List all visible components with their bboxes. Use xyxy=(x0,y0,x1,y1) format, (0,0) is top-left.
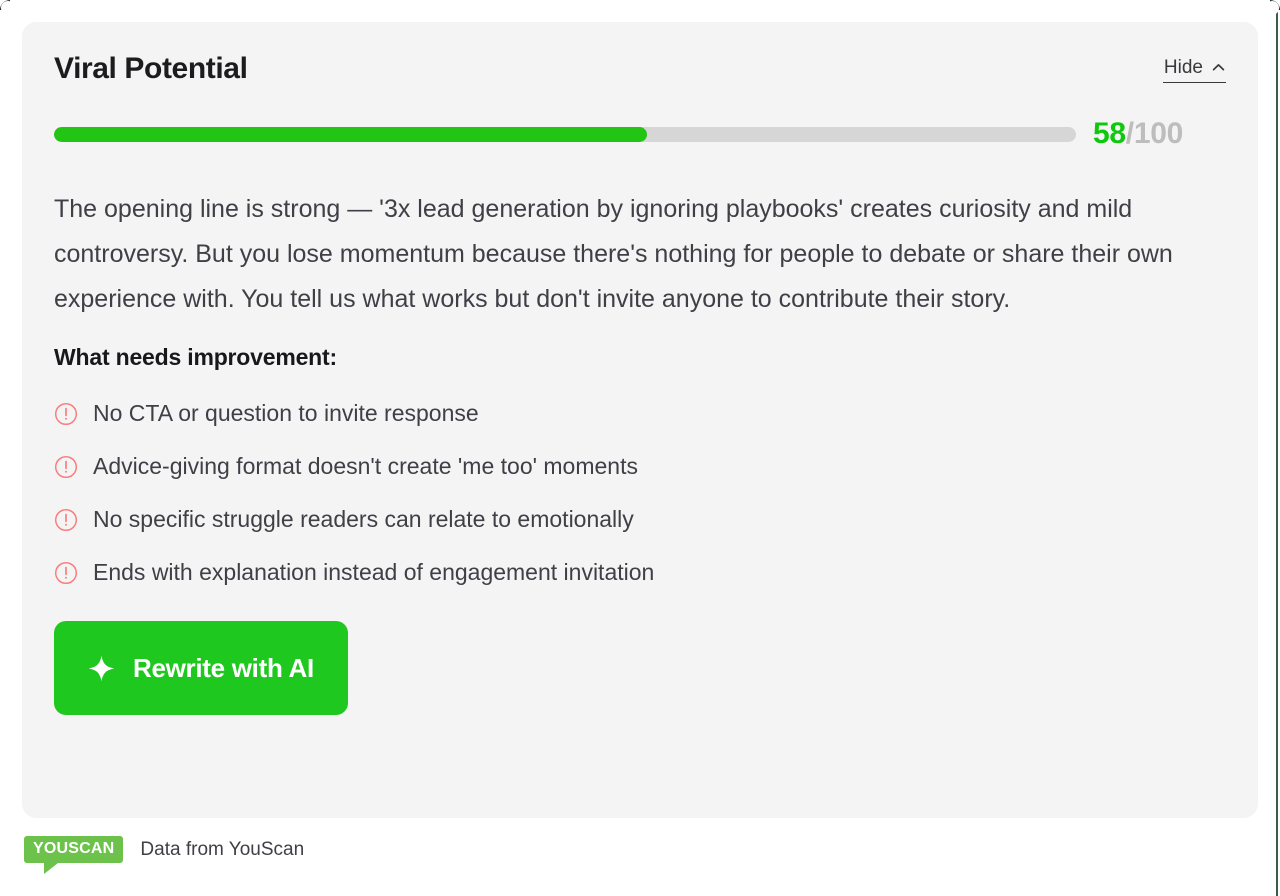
alert-circle-icon xyxy=(54,455,78,479)
list-item: Ends with explanation instead of engagem… xyxy=(54,546,1226,599)
hide-toggle-label: Hide xyxy=(1164,58,1203,77)
card-header: Viral Potential Hide xyxy=(54,52,1226,85)
hide-toggle-button[interactable]: Hide xyxy=(1163,58,1226,83)
youscan-badge-label: YOUSCAN xyxy=(33,841,114,857)
sparkle-icon xyxy=(88,655,115,682)
list-item: Advice-giving format doesn't create 'me … xyxy=(54,440,1226,493)
rewrite-with-ai-label: Rewrite with AI xyxy=(133,653,314,684)
alert-circle-icon xyxy=(54,561,78,585)
score-max: /100 xyxy=(1126,117,1183,150)
list-item-label: No CTA or question to invite response xyxy=(93,400,479,428)
list-item: No CTA or question to invite response xyxy=(54,387,1226,440)
chevron-up-icon xyxy=(1212,61,1225,74)
alert-circle-icon xyxy=(54,508,78,532)
improvement-heading: What needs improvement: xyxy=(54,344,1226,371)
list-item: No specific struggle readers can relate … xyxy=(54,493,1226,546)
alert-circle-icon xyxy=(54,402,78,426)
page-title: Viral Potential xyxy=(54,52,248,85)
viral-score-progress-bar xyxy=(54,127,1076,142)
data-source-label: Data from YouScan xyxy=(140,840,304,859)
list-item-label: Ends with explanation instead of engagem… xyxy=(93,559,654,587)
page-corner-top-right xyxy=(1270,0,1280,10)
issues-list: No CTA or question to invite response Ad… xyxy=(54,387,1226,599)
list-item-label: No specific struggle readers can relate … xyxy=(93,506,634,534)
viral-potential-card: Viral Potential Hide 58/100 The opening … xyxy=(22,22,1258,818)
score-value: 58 xyxy=(1093,117,1126,150)
rewrite-with-ai-button[interactable]: Rewrite with AI xyxy=(54,621,348,715)
page-edge-right xyxy=(1276,6,1278,896)
page-root: Viral Potential Hide 58/100 The opening … xyxy=(0,0,1280,896)
viral-score-progress-fill xyxy=(54,127,647,142)
footer: YOUSCAN Data from YouScan xyxy=(24,836,304,863)
page-corner-top-left xyxy=(0,0,10,10)
list-item-label: Advice-giving format doesn't create 'me … xyxy=(93,453,638,481)
summary-text: The opening line is strong — '3x lead ge… xyxy=(54,187,1226,322)
youscan-badge: YOUSCAN xyxy=(24,836,123,863)
score-row: 58/100 xyxy=(54,119,1226,149)
status-badge: 58/100 xyxy=(1093,119,1183,149)
